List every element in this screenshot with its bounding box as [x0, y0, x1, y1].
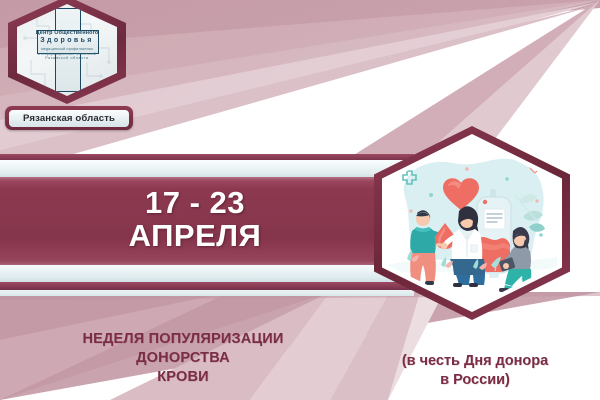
- logo-line-5: Рязанской области: [19, 56, 115, 60]
- banner-stripe-top-light: [0, 160, 414, 178]
- logo-line-4: и информационных технологий: [19, 52, 115, 56]
- headline-line-3: КРОВИ: [38, 368, 328, 387]
- organization-logo: Центр Общественного Здоровья медицинской…: [8, 0, 126, 104]
- banner-stripe-bottom-light-2: [0, 290, 414, 296]
- subline: (в честь Дня донора в России): [360, 352, 590, 390]
- headline-line-2: ДОНОРСТВА: [38, 349, 328, 368]
- logo-line-1: Центр Общественного: [19, 30, 115, 36]
- date-text: 17 - 23 АПРЕЛЯ: [60, 186, 330, 252]
- region-plate: Рязанская область: [5, 106, 133, 130]
- banner-stripe-bottom-accent: [0, 282, 414, 290]
- date-line-2: АПРЕЛЯ: [60, 219, 330, 252]
- subline-line-2: в России): [360, 371, 590, 390]
- headline-line-1: НЕДЕЛЯ ПОПУЛЯРИЗАЦИИ: [38, 330, 328, 349]
- banner-stripe-bottom-light: [0, 265, 414, 282]
- illustration-hexagon: [374, 126, 570, 320]
- poster-canvas: Центр Общественного Здоровья медицинской…: [0, 0, 600, 400]
- region-label: Рязанская область: [9, 110, 129, 127]
- logo-line-2: Здоровья: [19, 37, 115, 44]
- logo-line-3: медицинской профилактики: [19, 47, 115, 51]
- headline: НЕДЕЛЯ ПОПУЛЯРИЗАЦИИ ДОНОРСТВА КРОВИ: [38, 330, 328, 387]
- date-line-1: 17 - 23: [60, 186, 330, 219]
- subline-line-1: (в честь Дня донора: [360, 352, 590, 371]
